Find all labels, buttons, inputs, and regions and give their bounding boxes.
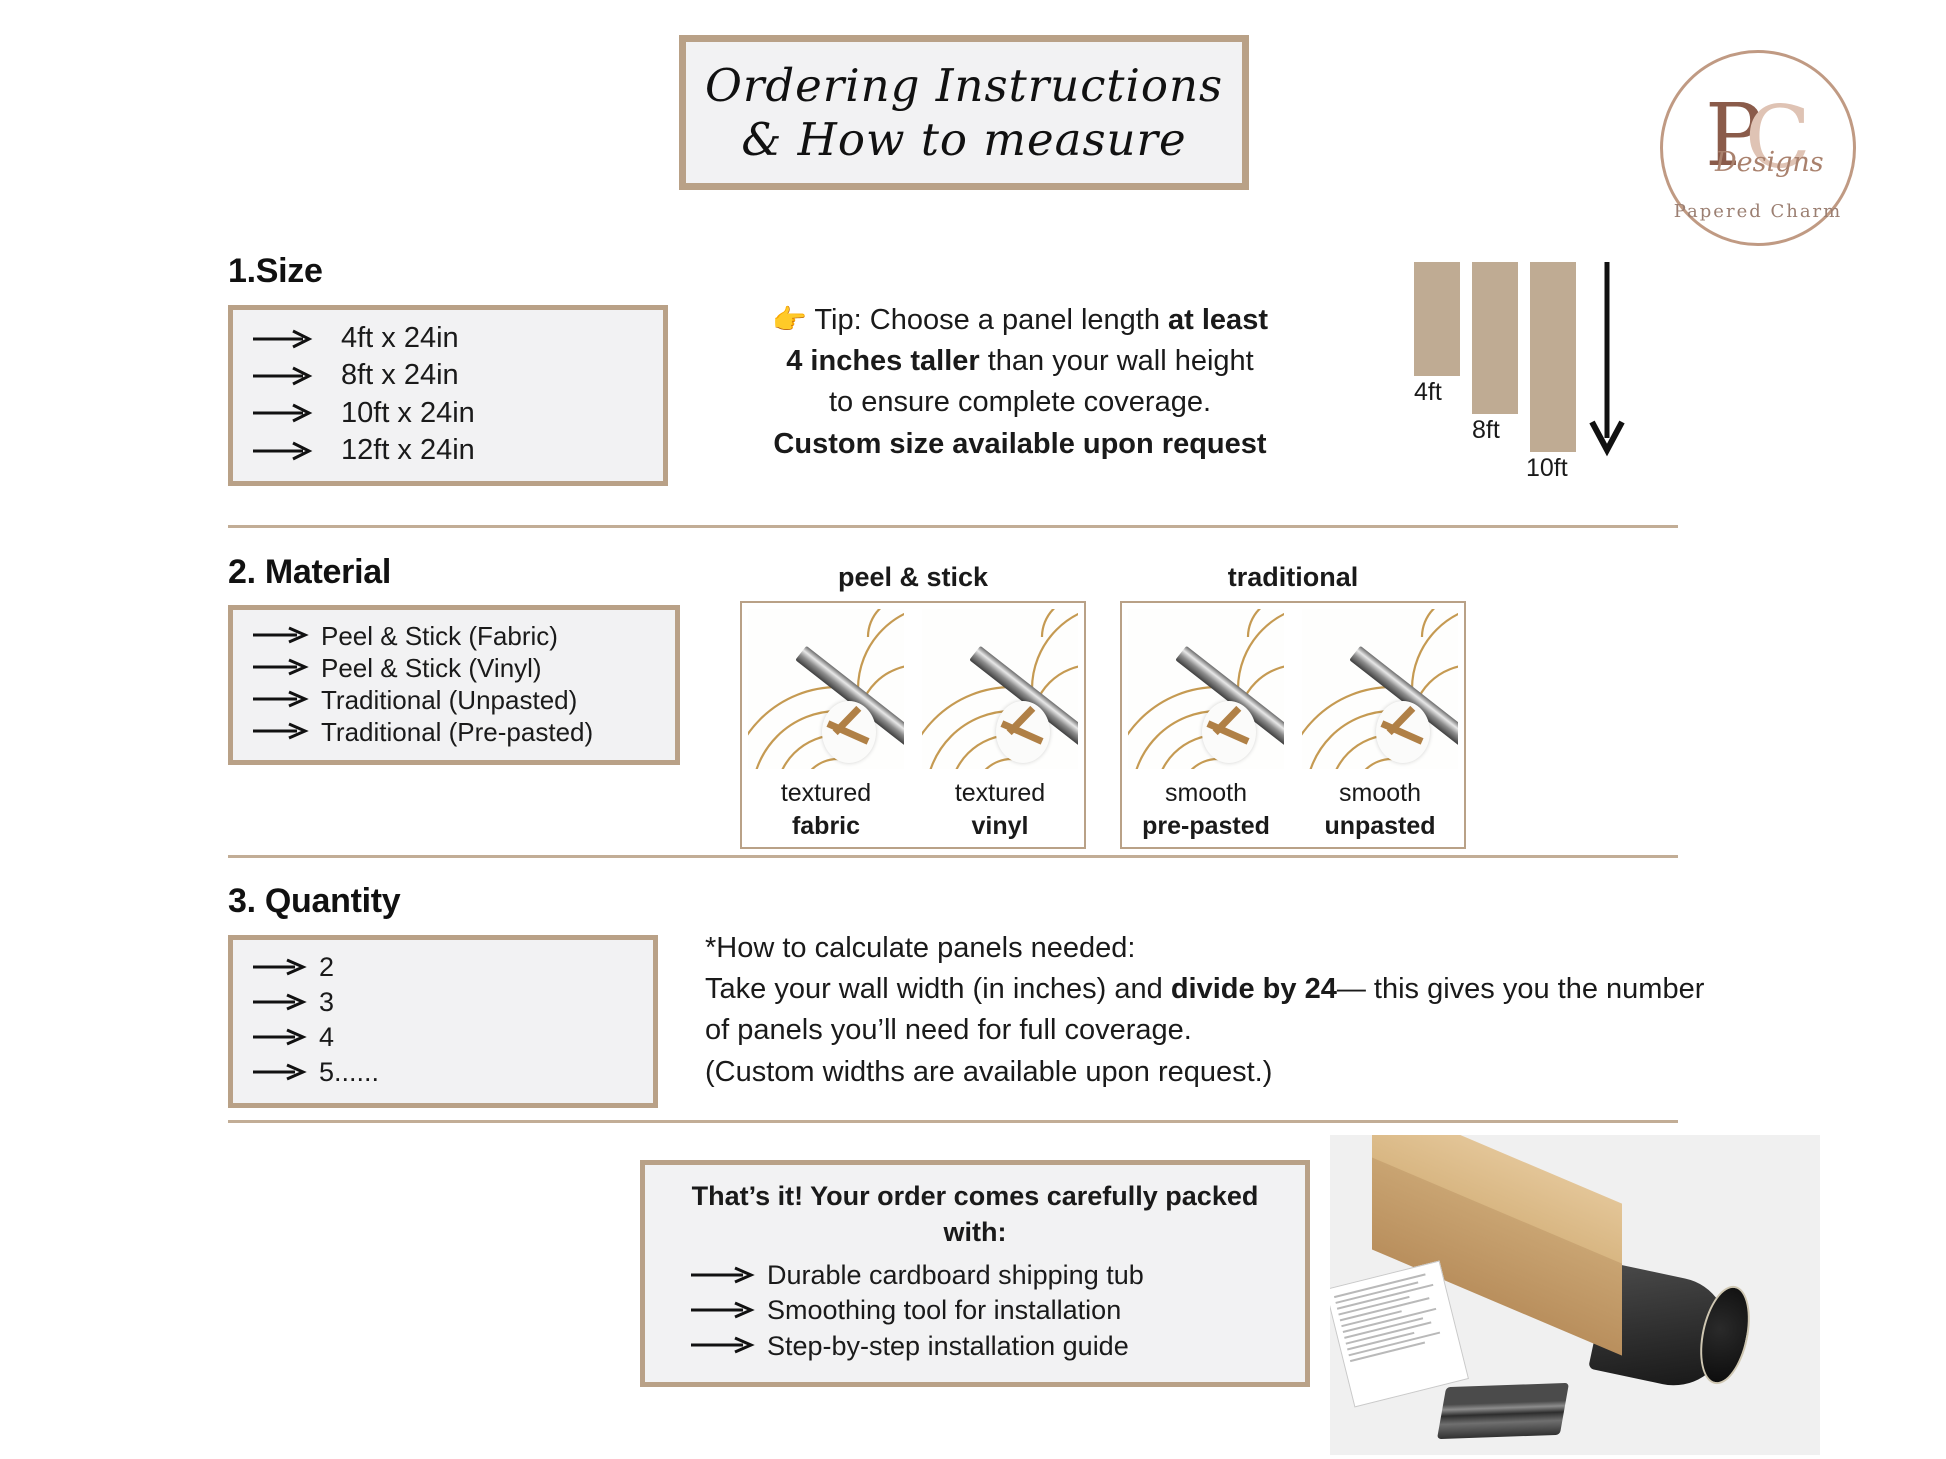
swatch-caption-top: smooth [1302, 779, 1458, 808]
material-option-label: Traditional (Unpasted) [321, 686, 577, 714]
qty-note-line-2: Take your wall width (in inches) and div… [705, 969, 1905, 1010]
page-title-line-2: & How to measure [741, 113, 1186, 166]
tip-line-1: 👉 Tip: Choose a panel length at least [700, 300, 1340, 341]
quantity-option-row[interactable]: 5...... [251, 1055, 637, 1090]
qty-note-line-1: *How to calculate panels needed: [705, 928, 1905, 969]
arrow-right-icon [251, 441, 315, 461]
logo-monogram: P C Designs [1693, 93, 1823, 189]
material-section-heading: 2. Material [228, 553, 391, 592]
arrow-right-icon [251, 690, 309, 710]
section-divider-3 [228, 1120, 1678, 1123]
title-box: Ordering Instructions & How to measure [679, 35, 1249, 190]
arrow-right-icon [689, 1336, 755, 1356]
swatch-image [1302, 609, 1458, 769]
packed-item-label: Durable cardboard shipping tub [767, 1261, 1144, 1290]
swatch-caption-top: textured [748, 779, 904, 808]
arrow-down-icon [1586, 260, 1628, 465]
quantity-calculation-note: *How to calculate panels needed: Take yo… [705, 928, 1905, 1093]
quantity-option-row[interactable]: 2 [251, 950, 637, 985]
swatch-group-title: traditional [1120, 562, 1466, 593]
size-option-label: 8ft x 24in [341, 360, 459, 391]
swatch-textured-vinyl[interactable]: textured vinyl [922, 609, 1078, 841]
section-divider-2 [228, 855, 1678, 858]
panel-bar-4ft [1414, 262, 1460, 376]
panel-bar-label-4ft: 4ft [1414, 378, 1442, 407]
packed-title-line-1: That’s it! Your order comes carefully pa… [692, 1181, 1259, 1211]
panel-bar-10ft [1530, 262, 1576, 452]
section-divider-1 [228, 525, 1678, 528]
texture-closeup-disc [1202, 701, 1256, 763]
qty-note-line-4: (Custom widths are available upon reques… [705, 1052, 1905, 1093]
swatch-caption-bottom: unpasted [1302, 812, 1458, 841]
swatch-group-peel-and-stick: peel & stick [740, 562, 1086, 849]
size-option-label: 10ft x 24in [341, 398, 475, 429]
packed-title: That’s it! Your order comes carefully pa… [665, 1179, 1285, 1250]
arrow-right-icon [251, 722, 309, 742]
logo-brand-name: Papered Charm [1674, 201, 1842, 222]
size-option-row[interactable]: 4ft x 24in [251, 320, 647, 357]
qty-note-line-3: of panels you’ll need for full coverage. [705, 1010, 1905, 1051]
swatch-image [748, 609, 904, 769]
quantity-option-row[interactable]: 4 [251, 1020, 637, 1055]
swatch-image [922, 609, 1078, 769]
arrow-right-icon [251, 958, 307, 978]
swatch-caption-bottom: vinyl [922, 812, 1078, 841]
packed-item-label: Step-by-step installation guide [767, 1332, 1129, 1361]
tip-line-4: Custom size available upon request [700, 424, 1340, 465]
arrow-right-icon [251, 1063, 307, 1083]
packed-item-row: Step-by-step installation guide [665, 1329, 1285, 1364]
texture-closeup-disc [1376, 701, 1430, 763]
panel-bar-label-8ft: 8ft [1472, 416, 1500, 445]
size-option-row[interactable]: 10ft x 24in [251, 395, 647, 432]
page-header: Ordering Instructions & How to measure P… [0, 30, 1946, 210]
packed-title-line-2: with: [944, 1217, 1007, 1247]
panel-length-diagram: 4ft 8ft 10ft [1414, 262, 1634, 472]
packed-with-box: That’s it! Your order comes carefully pa… [640, 1160, 1310, 1387]
material-option-label: Peel & Stick (Fabric) [321, 622, 558, 650]
material-option-row[interactable]: Traditional (Pre-pasted) [251, 716, 659, 748]
quantity-option-label: 4 [319, 1023, 334, 1052]
swatch-image [1128, 609, 1284, 769]
swatch-group-title: peel & stick [740, 562, 1086, 593]
material-option-label: Peel & Stick (Vinyl) [321, 654, 542, 682]
logo-script-designs: Designs [1715, 147, 1824, 178]
size-section-heading: 1.Size [228, 252, 323, 291]
size-option-label: 4ft x 24in [341, 323, 459, 354]
swatch-caption-top: smooth [1128, 779, 1284, 808]
size-option-row[interactable]: 12ft x 24in [251, 432, 647, 469]
arrow-right-icon [251, 403, 315, 423]
swatch-group-traditional: traditional [1120, 562, 1466, 849]
packed-item-label: Smoothing tool for installation [767, 1296, 1121, 1325]
quantity-option-label: 3 [319, 988, 334, 1017]
material-option-row[interactable]: Traditional (Unpasted) [251, 684, 659, 716]
arrow-right-icon [689, 1266, 755, 1286]
size-option-label: 12ft x 24in [341, 435, 475, 466]
arrow-right-icon [251, 993, 307, 1013]
arrow-right-icon [251, 329, 315, 349]
tip-line-2: 4 inches taller than your wall height [700, 341, 1340, 382]
quantity-option-row[interactable]: 3 [251, 985, 637, 1020]
swatch-smooth-pre-pasted[interactable]: smooth pre-pasted [1128, 609, 1284, 841]
quantity-options-box: 2 3 4 5...... [228, 935, 658, 1108]
texture-closeup-disc [822, 701, 876, 763]
swatch-caption-bottom: pre-pasted [1128, 812, 1284, 841]
arrow-right-icon [251, 366, 315, 386]
packed-item-row: Smoothing tool for installation [665, 1293, 1285, 1328]
arrow-right-icon [689, 1301, 755, 1321]
material-option-label: Traditional (Pre-pasted) [321, 718, 593, 746]
swatch-caption-bottom: fabric [748, 812, 904, 841]
swatch-frame: textured fabric [740, 601, 1086, 849]
tip-line-3: to ensure complete coverage. [700, 382, 1340, 423]
swatch-frame: smooth pre-pasted [1120, 601, 1466, 849]
brand-logo: P C Designs Papered Charm [1660, 50, 1856, 246]
pointing-hand-icon: 👉 [772, 304, 807, 335]
size-options-box: 4ft x 24in 8ft x 24in 10ft x 24in 12ft x… [228, 305, 668, 486]
material-option-row[interactable]: Peel & Stick (Fabric) [251, 620, 659, 652]
page-title-line-1: Ordering Instructions [705, 59, 1223, 112]
panel-bar-label-10ft: 10ft [1526, 454, 1568, 483]
packaging-photo [1330, 1135, 1820, 1455]
panel-bar-8ft [1472, 262, 1518, 414]
swatch-caption-top: textured [922, 779, 1078, 808]
swatch-textured-fabric[interactable]: textured fabric [748, 609, 904, 841]
material-option-row[interactable]: Peel & Stick (Vinyl) [251, 652, 659, 684]
texture-closeup-disc [996, 701, 1050, 763]
arrow-right-icon [251, 626, 309, 646]
arrow-right-icon [251, 1028, 307, 1048]
material-options-box: Peel & Stick (Fabric) Peel & Stick (Viny… [228, 605, 680, 765]
swatch-smooth-unpasted[interactable]: smooth unpasted [1302, 609, 1458, 841]
arrow-right-icon [251, 658, 309, 678]
smoothing-tool [1437, 1383, 1569, 1439]
quantity-option-label: 2 [319, 953, 334, 982]
quantity-option-label: 5...... [319, 1058, 379, 1087]
size-option-row[interactable]: 8ft x 24in [251, 357, 647, 394]
packed-item-row: Durable cardboard shipping tub [665, 1258, 1285, 1293]
size-tip-text: 👉 Tip: Choose a panel length at least 4 … [700, 300, 1340, 465]
quantity-section-heading: 3. Quantity [228, 882, 400, 921]
